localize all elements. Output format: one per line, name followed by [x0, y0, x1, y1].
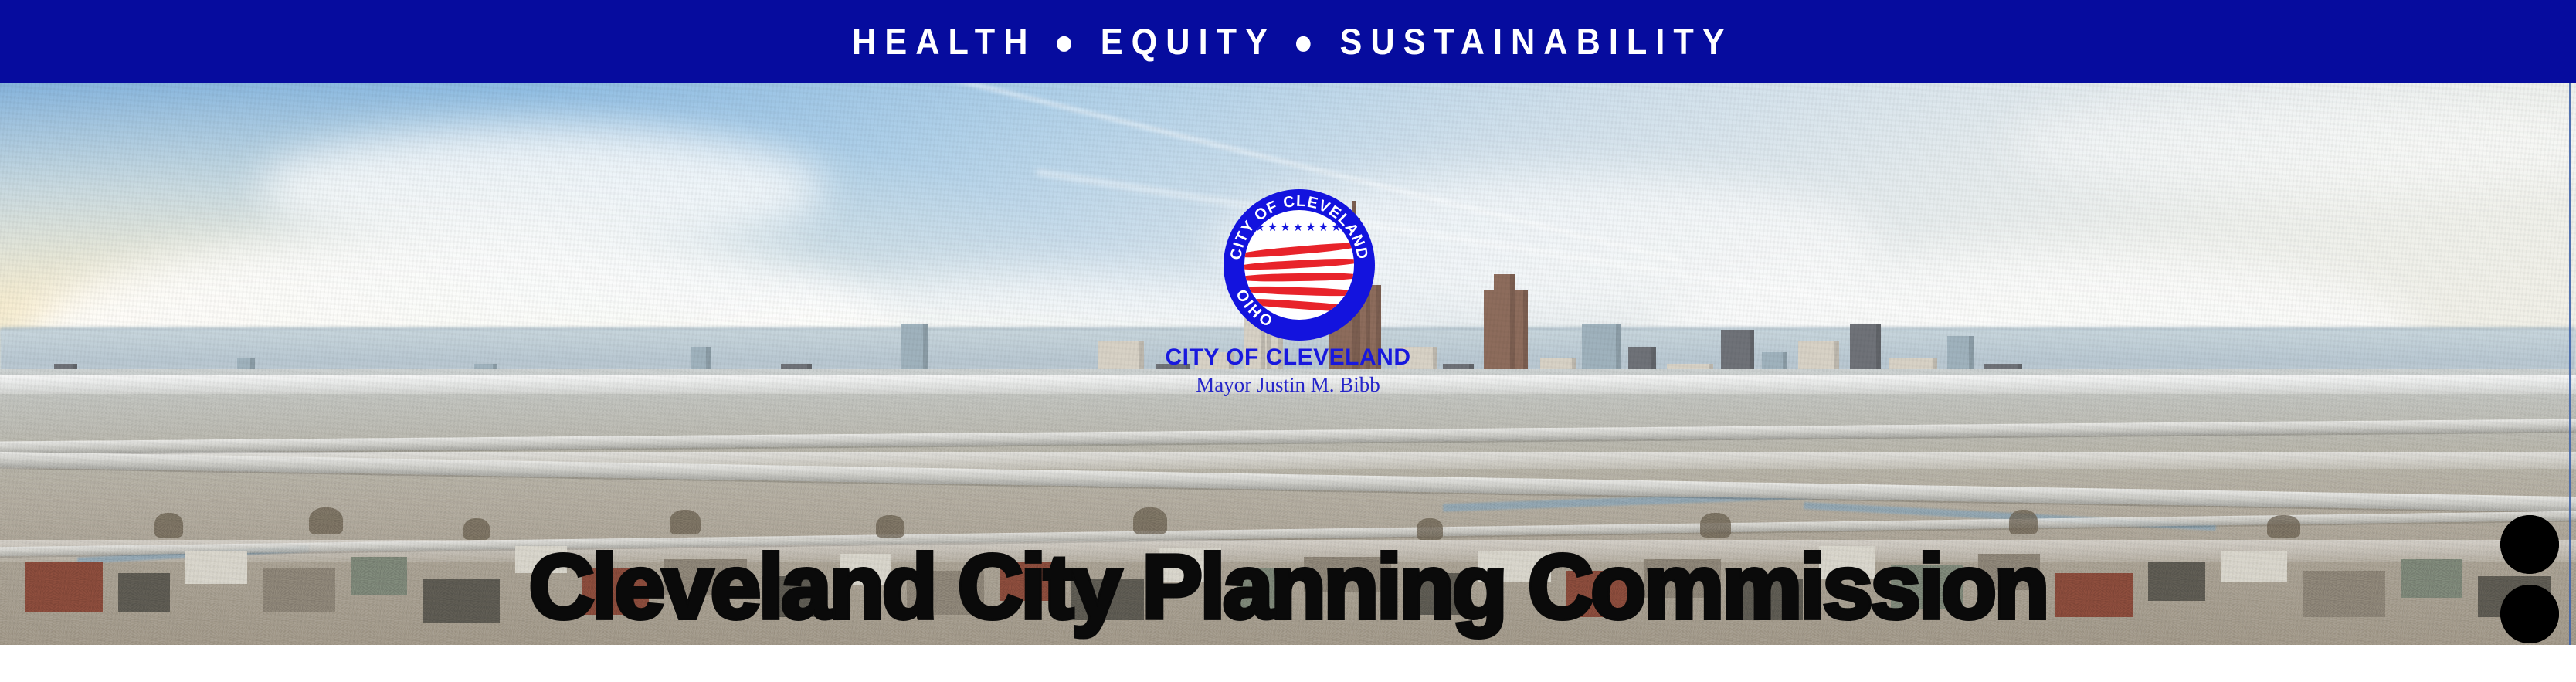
city-of-cleveland-label: CITY OF CLEVELAND — [0, 345, 2576, 370]
seal-inner-disc: ★★★★★★★ — [1244, 210, 1353, 319]
header-graphic: HEALTH ● EQUITY ● SUSTAINABILITY — [0, 0, 2576, 682]
seal-flag — [1244, 243, 1353, 320]
seal-caption: CITY OF CLEVELAND Mayor Justin M. Bibb — [0, 345, 2576, 396]
page-title: Cleveland City Planning Commission — [0, 541, 2576, 632]
tagline-text: HEALTH ● EQUITY ● SUSTAINABILITY — [843, 20, 1733, 63]
youtube-icon[interactable] — [2500, 515, 2559, 574]
social-links[interactable] — [2500, 515, 2559, 645]
mayor-name-label: Mayor Justin M. Bibb — [0, 374, 2576, 397]
instagram-icon[interactable] — [2500, 585, 2559, 643]
hero-photo: CITY OF CLEVELAND OHIO ★★★★★★★ — [0, 83, 2576, 645]
city-seal: CITY OF CLEVELAND OHIO ★★★★★★★ — [1217, 189, 1382, 341]
tagline-banner: HEALTH ● EQUITY ● SUSTAINABILITY — [0, 0, 2576, 83]
